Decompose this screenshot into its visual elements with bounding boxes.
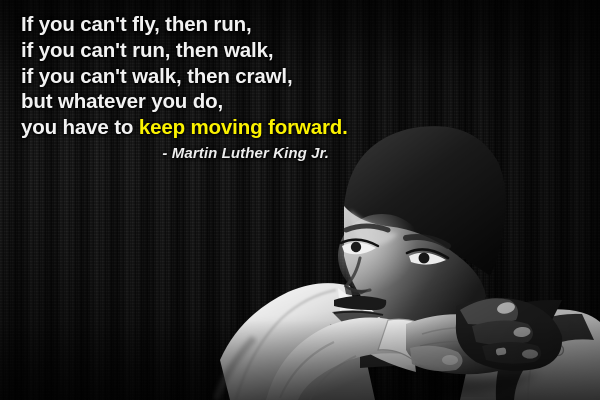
quote-line-1: If you can't fly, then run, <box>21 12 361 38</box>
quote-line-2: if you can't run, then walk, <box>21 38 361 64</box>
quote-block: If you can't fly, then run, if you can't… <box>21 12 361 162</box>
quote-line-3: if you can't walk, then crawl, <box>21 64 361 90</box>
quote-line-5: you have to keep moving forward. <box>21 115 361 141</box>
quote-line-4: but whatever you do, <box>21 89 361 115</box>
quote-poster: If you can't fly, then run, if you can't… <box>0 0 600 400</box>
quote-line-5-plain: you have to <box>21 116 139 139</box>
quote-attribution: - Martin Luther King Jr. <box>21 145 361 162</box>
quote-highlight: keep moving forward. <box>139 116 348 139</box>
